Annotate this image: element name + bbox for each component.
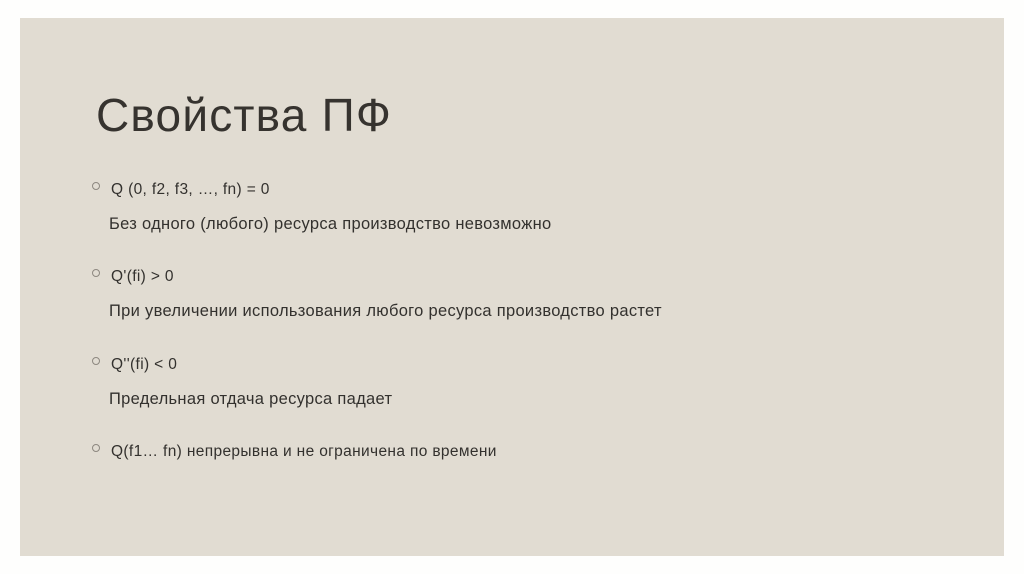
bullet-description: При увеличении использования любого ресу… [109, 298, 952, 324]
slide-body: Q (0, f2, f3, …, fn) = 0 Без одного (люб… [92, 178, 952, 464]
hollow-circle-bullet-icon [92, 269, 100, 277]
bullet-item-label: Q'(fi) > 0 [111, 265, 174, 289]
page-title: Свойства ПФ [96, 90, 392, 141]
hollow-circle-bullet-icon [92, 357, 100, 365]
bullet-item: Q'(fi) > 0 [92, 265, 952, 289]
bullet-group: Q (0, f2, f3, …, fn) = 0 Без одного (люб… [92, 178, 952, 237]
bullet-item-label: Q (0, f2, f3, …, fn) = 0 [111, 178, 270, 202]
bullet-group: Q(f1… fn) непрерывна и не ограничена по … [92, 440, 952, 464]
bullet-item: Q (0, f2, f3, …, fn) = 0 [92, 178, 952, 202]
bullet-item-label: Q''(fi) < 0 [111, 353, 177, 377]
bullet-description: Без одного (любого) ресурса производство… [109, 211, 952, 237]
bullet-group: Q''(fi) < 0 Предельная отдача ресурса па… [92, 353, 952, 412]
bullet-group: Q'(fi) > 0 При увеличении использования … [92, 265, 952, 324]
slide-frame: Свойства ПФ Q (0, f2, f3, …, fn) = 0 Без… [0, 0, 1024, 574]
slide-canvas: Свойства ПФ Q (0, f2, f3, …, fn) = 0 Без… [20, 18, 1004, 556]
hollow-circle-bullet-icon [92, 182, 100, 190]
hollow-circle-bullet-icon [92, 444, 100, 452]
bullet-item: Q''(fi) < 0 [92, 353, 952, 377]
bullet-description: Предельная отдача ресурса падает [109, 386, 952, 412]
bullet-item: Q(f1… fn) непрерывна и не ограничена по … [92, 440, 952, 464]
bullet-item-label: Q(f1… fn) непрерывна и не ограничена по … [111, 440, 497, 464]
